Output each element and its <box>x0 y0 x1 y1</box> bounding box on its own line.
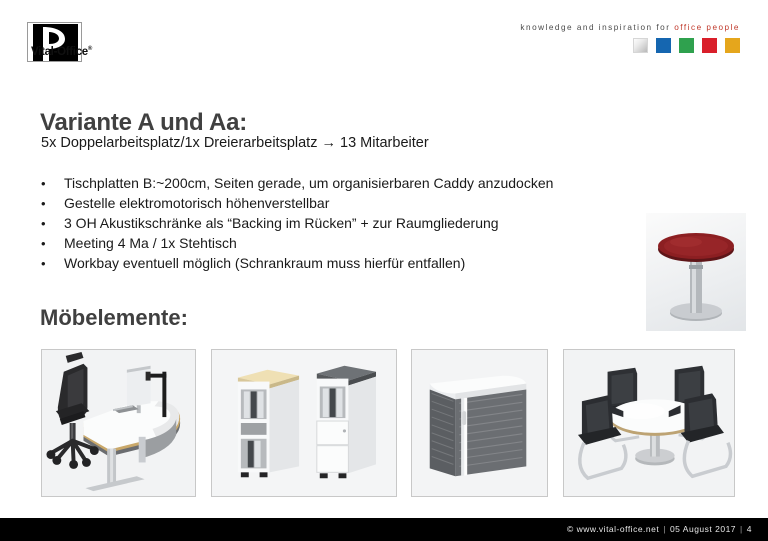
logo-wordmark: Vital-Office® <box>31 46 92 58</box>
rolling-caddy-units-illustration <box>212 350 396 496</box>
page-number: 4 <box>747 524 752 534</box>
list-item-label: Meeting 4 Ma / 1x Stehtisch <box>64 234 237 254</box>
presentation-slide: Vital-Office® knowledge and inspiration … <box>0 0 768 541</box>
product-image-meeting-table <box>563 349 735 497</box>
slide-header: Vital-Office® knowledge and inspiration … <box>0 0 768 72</box>
list-item-label: Tischplatten B:~200cm, Seiten gerade, um… <box>64 174 553 194</box>
swatch-amber <box>725 38 740 53</box>
product-image-acoustic-cabinet <box>411 349 548 497</box>
bullet-marker-icon: • <box>41 254 64 274</box>
list-item: • Tischplatten B:~200cm, Seiten gerade, … <box>41 174 661 194</box>
list-item-label: Gestelle elektromotorisch höhenverstellb… <box>64 194 329 214</box>
footer-date: 05 August 2017 <box>670 524 736 534</box>
swatch-blue <box>656 38 671 53</box>
section-title: Möbelemente: <box>40 305 188 331</box>
brand-color-swatches <box>633 38 740 53</box>
header-tagline: knowledge and inspiration for office peo… <box>520 23 740 32</box>
list-item: • Gestelle elektromotorisch höhenverstel… <box>41 194 661 214</box>
list-item: • 3 OH Akustikschränke als “Backing im R… <box>41 214 661 234</box>
bullet-list: • Tischplatten B:~200cm, Seiten gerade, … <box>41 174 661 274</box>
footer-separator: | <box>659 524 670 534</box>
list-item-label: Workbay eventuell möglich (Schrankraum m… <box>64 254 465 274</box>
page-title: Variante A und Aa: <box>40 109 247 137</box>
height-adjustable-desk-illustration <box>42 350 195 496</box>
tagline-plain: knowledge and inspiration for <box>520 23 674 32</box>
list-item: • Meeting 4 Ma / 1x Stehtisch <box>41 234 661 254</box>
round-meeting-table-illustration <box>564 350 734 496</box>
trademark-symbol: ® <box>88 46 92 52</box>
vital-office-logo: Vital-Office® <box>27 22 95 62</box>
swatch-green <box>679 38 694 53</box>
footer-meta: © www.vital-office.net|05 August 2017|4 <box>567 518 752 541</box>
bullet-marker-icon: • <box>41 174 64 194</box>
slide-footer: © www.vital-office.net|05 August 2017|4 <box>0 518 768 541</box>
swatch-red <box>702 38 717 53</box>
acoustic-cabinet-illustration <box>412 350 547 496</box>
product-image-caddy <box>211 349 397 497</box>
bullet-marker-icon: • <box>41 194 64 214</box>
copyright-symbol: © <box>567 524 574 534</box>
logo-wordmark-text: Vital-Office <box>31 46 88 58</box>
product-image-desk <box>41 349 196 497</box>
list-item-label: 3 OH Akustikschränke als “Backing im Rüc… <box>64 214 499 234</box>
standing-table-illustration <box>646 213 746 331</box>
swatch-silver <box>633 38 648 53</box>
footer-separator: | <box>736 524 747 534</box>
list-item: • Workbay eventuell möglich (Schrankraum… <box>41 254 661 274</box>
footer-website: www.vital-office.net <box>577 524 660 534</box>
bullet-marker-icon: • <box>41 234 64 254</box>
slide-subtitle: 5x Doppelarbeitsplatz/1x Dreierarbeitspl… <box>41 135 429 151</box>
tagline-accent: office people <box>674 23 740 32</box>
bullet-marker-icon: • <box>41 214 64 234</box>
standing-table-image <box>646 213 746 331</box>
